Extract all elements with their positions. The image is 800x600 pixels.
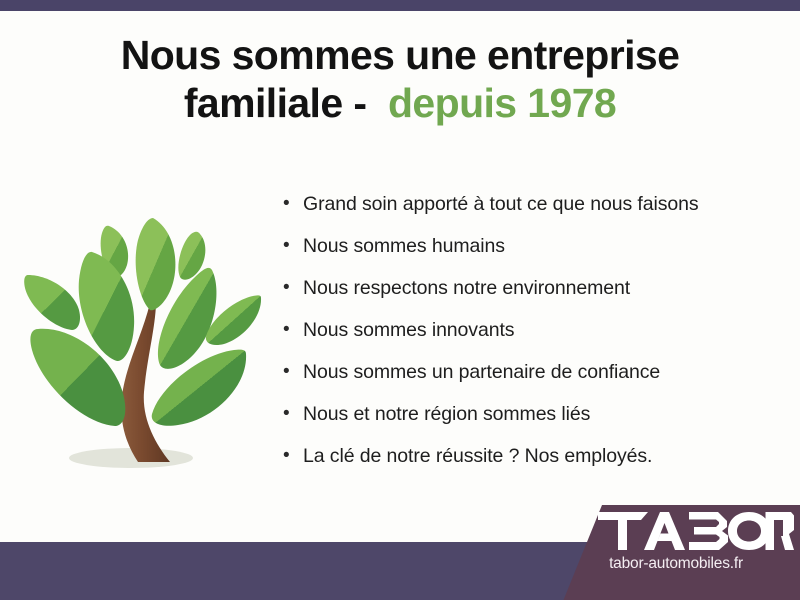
tabor-wordmark-svg	[598, 511, 794, 551]
list-item: • Nous et notre région sommes liés	[283, 400, 773, 441]
list-item: • Nous respectons notre environnement	[283, 274, 773, 315]
bullet-marker-icon: •	[283, 400, 303, 428]
list-item-label: Grand soin apporté à tout ce que nous fa…	[303, 190, 699, 218]
slide-canvas: Nous sommes une entreprise familiale - d…	[0, 0, 800, 600]
tree-illustration	[14, 186, 270, 486]
bullet-marker-icon: •	[283, 274, 303, 302]
tree-svg	[14, 186, 270, 486]
bullet-marker-icon: •	[283, 316, 303, 344]
bullet-marker-icon: •	[283, 232, 303, 260]
leaf-top-center	[136, 218, 176, 310]
list-item-label: Nous sommes humains	[303, 232, 505, 260]
title-line-2-green: depuis 1978	[388, 80, 616, 126]
logo-url-label: tabor-automobiles.fr	[556, 555, 796, 573]
bullet-marker-icon: •	[283, 190, 303, 218]
bullet-marker-icon: •	[283, 358, 303, 386]
tree-shadow	[69, 448, 193, 468]
title-line-2-black: familiale -	[184, 80, 388, 126]
bullet-marker-icon: •	[283, 442, 303, 470]
list-item-label: Nous sommes un partenaire de confiance	[303, 358, 660, 386]
page-title: Nous sommes une entreprise familiale - d…	[40, 32, 760, 127]
list-item: • Grand soin apporté à tout ce que nous …	[283, 190, 773, 231]
title-line-2: familiale - depuis 1978	[40, 80, 760, 128]
list-item: • Nous sommes innovants	[283, 316, 773, 357]
list-item: • Nous sommes un partenaire de confiance	[283, 358, 773, 399]
title-line-1: Nous sommes une entreprise	[40, 32, 760, 80]
leaf-far-left	[24, 275, 80, 330]
list-item: • Nous sommes humains	[283, 232, 773, 273]
list-item: • La clé de notre réussite ? Nos employé…	[283, 442, 773, 483]
list-item-label: La clé de notre réussite ? Nos employés.	[303, 442, 652, 470]
list-item-label: Nous et notre région sommes liés	[303, 400, 590, 428]
tabor-wordmark-icon	[598, 511, 794, 551]
bullet-list: • Grand soin apporté à tout ce que nous …	[283, 190, 773, 484]
top-accent-bar	[0, 0, 800, 11]
brand-logo[interactable]: tabor-automobiles.fr	[556, 503, 800, 600]
list-item-label: Nous respectons notre environnement	[303, 274, 630, 302]
list-item-label: Nous sommes innovants	[303, 316, 514, 344]
